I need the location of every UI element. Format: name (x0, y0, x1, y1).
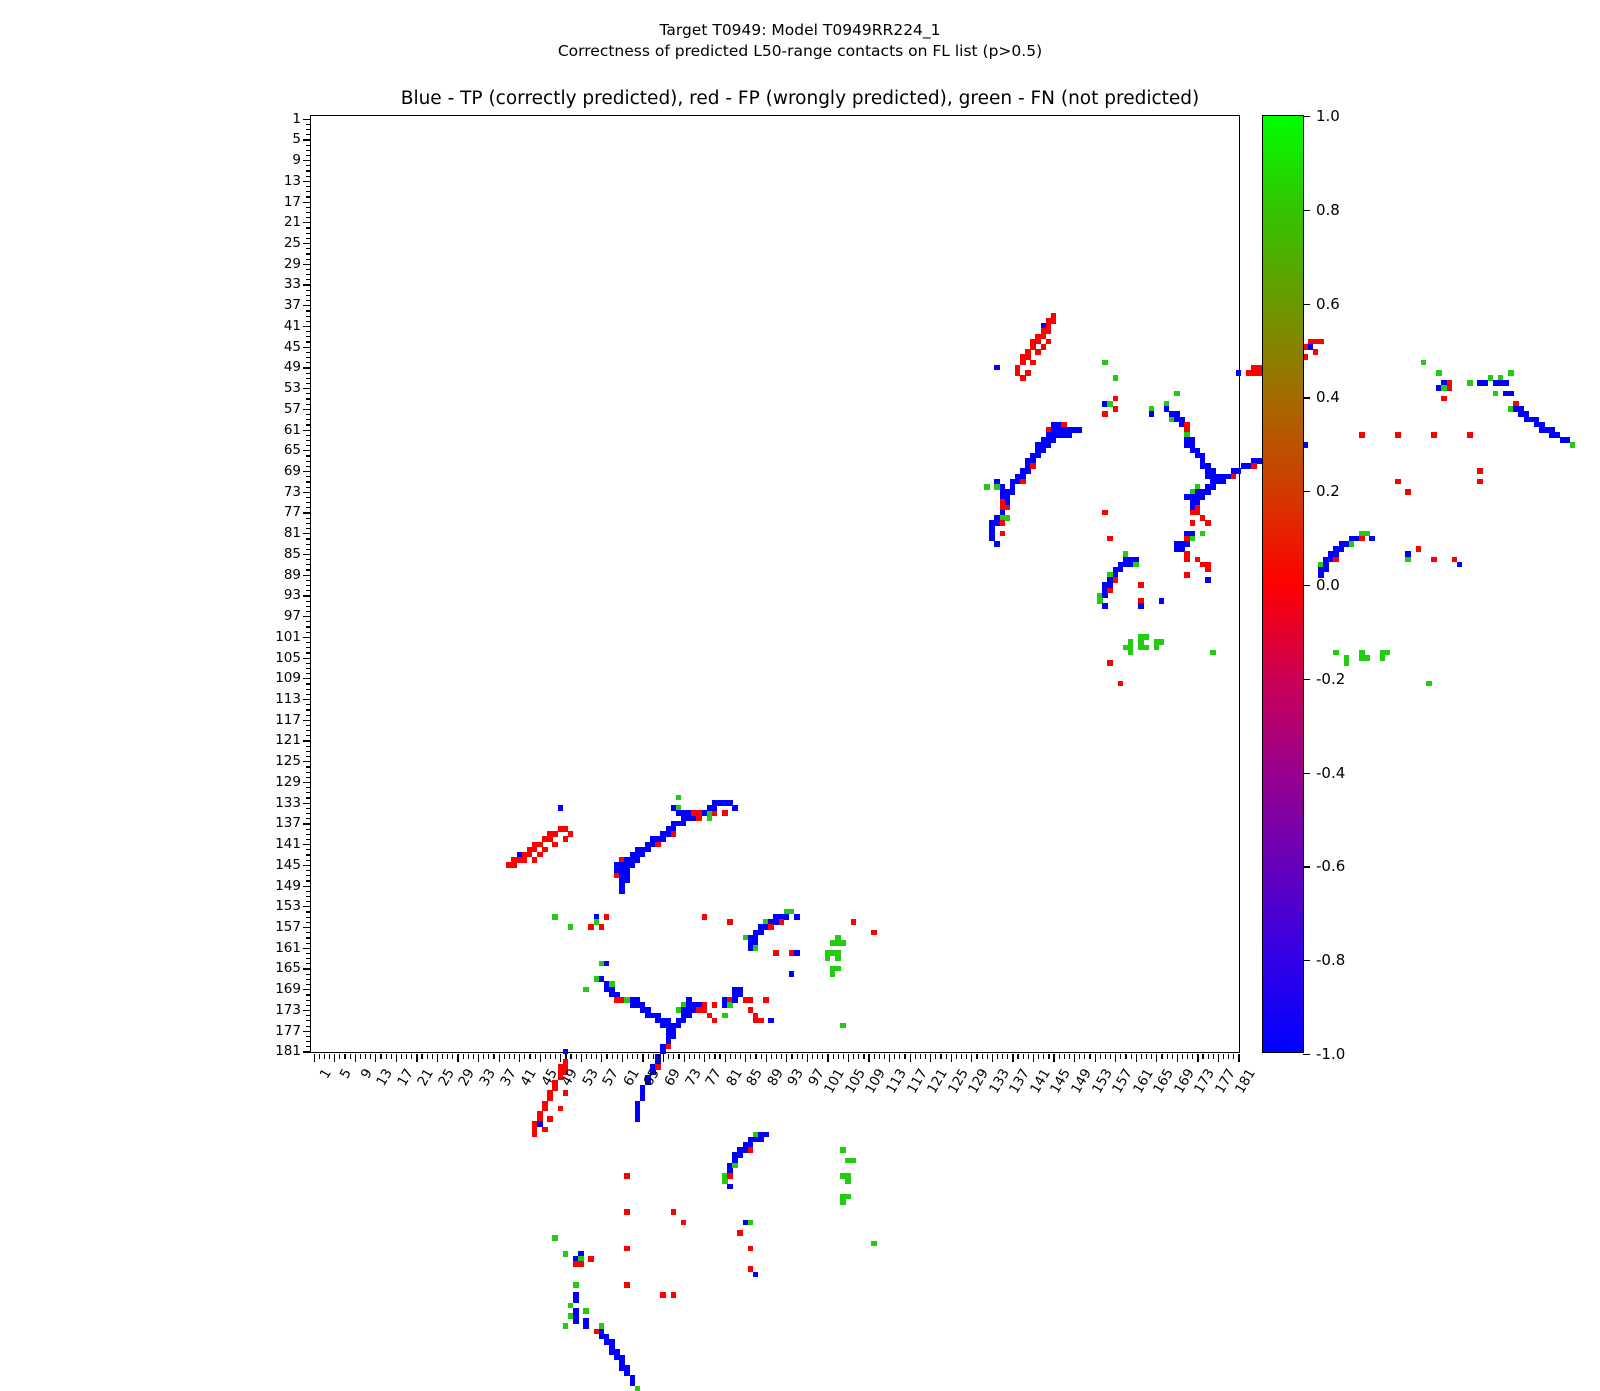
y-tick-label: 97 (284, 608, 301, 624)
y-tick (306, 601, 311, 602)
contact-cell (789, 971, 795, 977)
y-tick (306, 943, 311, 944)
y-tick (306, 259, 311, 260)
x-tick-label: 153 (1089, 1066, 1116, 1096)
y-tick (306, 186, 311, 187)
contact-cell (712, 1018, 718, 1024)
contact-cell (1035, 349, 1041, 355)
y-tick (306, 891, 311, 892)
y-tick-label: 121 (275, 732, 301, 748)
y-tick (306, 694, 311, 695)
x-tick-label: 33 (476, 1066, 498, 1089)
x-tick-label: 161 (1130, 1066, 1157, 1096)
y-tick-label: 81 (284, 525, 301, 541)
colorbar-tick-label: -0.6 (1316, 857, 1345, 875)
y-tick-label: 69 (284, 463, 301, 479)
contact-cell (835, 956, 841, 962)
x-tick (863, 1054, 864, 1059)
contact-cell (732, 1163, 738, 1169)
y-tick-label: 181 (275, 1043, 301, 1059)
contact-cell (1333, 650, 1339, 656)
contact-cell (1200, 494, 1206, 500)
x-tick (817, 1054, 818, 1059)
contact-cell (768, 1018, 774, 1024)
x-tick (355, 1054, 356, 1062)
colorbar-tick-label: 0.0 (1316, 576, 1340, 594)
y-tick (306, 1020, 311, 1021)
contact-cell (743, 997, 749, 1003)
x-tick (570, 1054, 571, 1059)
x-tick (632, 1054, 633, 1059)
y-tick (306, 896, 311, 897)
y-tick (306, 746, 311, 747)
y-tick (306, 523, 311, 524)
y-tick (306, 544, 311, 545)
colorbar-tick-label: 0.8 (1316, 201, 1340, 219)
y-tick (306, 227, 311, 228)
y-tick (306, 984, 311, 985)
y-tick (306, 590, 311, 591)
y-tick-label: 9 (292, 152, 301, 168)
x-tick (1028, 1054, 1029, 1059)
contact-cell (1077, 427, 1083, 433)
contact-cell (563, 1251, 569, 1257)
y-tick (303, 658, 311, 659)
contact-cell (1143, 645, 1149, 651)
y-tick (306, 279, 311, 280)
contact-cell (532, 1132, 538, 1138)
y-tick (306, 647, 311, 648)
contact-cell (624, 1173, 630, 1179)
contact-cell (1102, 593, 1108, 599)
y-tick (303, 948, 311, 949)
y-tick (306, 383, 311, 384)
x-tick (416, 1054, 417, 1062)
x-tick (1079, 1054, 1080, 1059)
x-tick (565, 1054, 566, 1059)
contact-cell (671, 1292, 677, 1298)
contact-cell (1051, 437, 1057, 443)
y-tick (303, 160, 311, 161)
y-tick (306, 751, 311, 752)
x-tick (833, 1054, 834, 1059)
contact-cell (722, 810, 728, 816)
x-tick (606, 1054, 607, 1059)
y-tick (306, 310, 311, 311)
y-tick (306, 549, 311, 550)
y-tick-label: 157 (275, 919, 301, 935)
x-tick (370, 1054, 371, 1059)
contact-cell (635, 1386, 641, 1391)
y-tick-label: 85 (284, 546, 301, 562)
x-tick (719, 1054, 720, 1059)
contact-cell (1359, 432, 1365, 438)
y-tick (306, 559, 311, 560)
y-tick-label: 113 (275, 691, 301, 707)
x-tick (689, 1054, 690, 1059)
contact-cell (1000, 520, 1006, 526)
x-tick (725, 1054, 726, 1062)
y-tick (306, 606, 311, 607)
y-tick-label: 33 (284, 276, 301, 292)
contact-cell (1344, 660, 1350, 666)
y-tick (306, 673, 311, 674)
x-tick-label: 93 (785, 1066, 807, 1089)
x-tick (473, 1054, 474, 1059)
contact-cell (1467, 380, 1473, 386)
contact-cell (1107, 660, 1113, 666)
x-tick (930, 1054, 931, 1062)
contact-cell (588, 924, 594, 930)
x-tick (545, 1054, 546, 1059)
contact-cell (583, 1308, 589, 1314)
x-tick-label: 41 (517, 1066, 539, 1089)
y-tick (306, 461, 311, 462)
x-tick (1038, 1054, 1039, 1059)
y-tick (303, 450, 311, 451)
contact-cell (1508, 391, 1514, 397)
contact-cell (1174, 391, 1180, 397)
contact-cell (537, 852, 543, 858)
contact-cell (1200, 531, 1206, 537)
x-tick (889, 1054, 890, 1062)
x-tick-label: 81 (723, 1066, 745, 1089)
x-tick (673, 1054, 674, 1059)
y-tick-label: 49 (284, 359, 301, 375)
x-tick (478, 1054, 479, 1062)
y-tick (306, 357, 311, 358)
contact-cell (640, 1095, 646, 1101)
x-tick (344, 1054, 345, 1059)
x-tick-label: 157 (1109, 1066, 1136, 1096)
contact-cell (588, 1256, 594, 1262)
y-tick (306, 507, 311, 508)
contact-cell (1426, 681, 1432, 687)
y-tick (306, 958, 311, 959)
contact-cell (1364, 655, 1370, 661)
x-tick (463, 1054, 464, 1059)
y-tick (306, 378, 311, 379)
x-tick (1089, 1054, 1090, 1059)
x-tick (365, 1054, 366, 1059)
contact-cell (573, 1282, 579, 1288)
y-tick (306, 994, 311, 995)
contact-cell (1102, 411, 1108, 417)
contact-cell (758, 1137, 764, 1143)
x-tick (468, 1054, 469, 1059)
x-tick (802, 1054, 803, 1059)
x-tick (1141, 1054, 1142, 1059)
y-tick (306, 808, 311, 809)
legend-caption: Blue - TP (correctly predicted), red - F… (0, 88, 1600, 109)
contact-cell (1477, 479, 1483, 485)
x-tick (314, 1054, 315, 1062)
x-tick (966, 1054, 967, 1059)
y-tick (306, 373, 311, 374)
x-tick (956, 1054, 957, 1059)
contact-cell (1333, 557, 1339, 563)
x-tick-label: 133 (986, 1066, 1013, 1096)
y-tick (306, 248, 311, 249)
x-tick (874, 1054, 875, 1059)
y-tick (306, 932, 311, 933)
contact-cell (660, 836, 666, 842)
contact-cell (1339, 546, 1345, 552)
y-tick (306, 963, 311, 964)
contact-cell (542, 1106, 548, 1112)
y-tick (306, 274, 311, 275)
contact-cell (542, 1127, 548, 1133)
x-tick (879, 1054, 880, 1059)
contact-cell (1128, 650, 1134, 656)
contact-cell (732, 997, 738, 1003)
contact-cell (1416, 546, 1422, 552)
x-tick (550, 1054, 551, 1059)
contact-cell (624, 878, 630, 884)
contact-cell (552, 842, 558, 848)
contact-cell (1107, 536, 1113, 542)
y-tick (306, 772, 311, 773)
x-tick (709, 1054, 710, 1059)
contact-cell (1205, 489, 1211, 495)
y-tick (303, 678, 311, 679)
x-tick-label: 117 (904, 1066, 931, 1096)
y-tick-label: 153 (275, 898, 301, 914)
y-tick (306, 341, 311, 342)
contact-cell (1113, 375, 1119, 381)
x-tick (1238, 1054, 1239, 1062)
x-tick (648, 1054, 649, 1059)
y-tick (306, 233, 311, 234)
x-tick (730, 1054, 731, 1059)
y-tick (303, 119, 311, 120)
contact-cell (604, 961, 610, 967)
x-tick (612, 1054, 613, 1059)
contact-cell (599, 924, 605, 930)
contact-cell (1205, 520, 1211, 526)
contact-cell (794, 914, 800, 920)
x-tick (1167, 1054, 1168, 1059)
x-tick (1120, 1054, 1121, 1059)
colorbar-tick-label: -1.0 (1316, 1045, 1345, 1063)
x-tick (535, 1054, 536, 1059)
x-tick (591, 1054, 592, 1059)
contact-cell (1184, 551, 1190, 557)
y-tick (303, 595, 311, 596)
y-tick (306, 352, 311, 353)
y-tick-label: 165 (275, 960, 301, 976)
x-tick (622, 1054, 623, 1062)
contact-cell (1041, 344, 1047, 350)
colorbar-tick (1303, 1054, 1310, 1055)
y-tick (306, 253, 311, 254)
y-tick (306, 725, 311, 726)
y-tick (303, 1031, 311, 1032)
x-tick (699, 1054, 700, 1059)
y-tick (306, 191, 311, 192)
x-tick-label: 53 (579, 1066, 601, 1089)
x-tick (601, 1054, 602, 1062)
y-tick (303, 720, 311, 721)
y-tick (303, 533, 311, 534)
y-tick (306, 683, 311, 684)
contact-cell (1138, 582, 1144, 588)
y-tick-label: 41 (284, 318, 301, 334)
x-tick (1048, 1054, 1049, 1059)
x-tick (1233, 1054, 1234, 1059)
contact-cell (994, 520, 1000, 526)
y-tick (306, 870, 311, 871)
x-tick (858, 1054, 859, 1059)
contact-cell (681, 1018, 687, 1024)
y-tick (303, 637, 311, 638)
contact-cell (568, 831, 574, 837)
contact-cell (558, 1106, 564, 1112)
contact-cell (712, 1002, 718, 1008)
y-tick (303, 927, 311, 928)
figure-title: Target T0949: Model T0949RR224_1 Correct… (0, 20, 1600, 62)
y-tick-label: 13 (284, 173, 301, 189)
contact-cell (702, 914, 708, 920)
x-tick-label: 21 (415, 1066, 437, 1089)
contact-cell (1503, 380, 1509, 386)
y-tick (306, 269, 311, 270)
x-tick-label: 121 (924, 1066, 951, 1096)
contact-cell (563, 1090, 569, 1096)
x-tick (1146, 1054, 1147, 1059)
x-tick (391, 1054, 392, 1059)
x-tick (946, 1054, 947, 1059)
contact-cell (1159, 639, 1165, 645)
y-tick (306, 880, 311, 881)
contact-cell (1020, 479, 1026, 485)
contact-cell (1431, 432, 1437, 438)
contact-cell (1447, 385, 1453, 391)
contact-cell (748, 1220, 754, 1226)
y-tick-label: 5 (292, 131, 301, 147)
y-tick-label: 173 (275, 1002, 301, 1018)
y-tick (303, 823, 311, 824)
y-tick (306, 445, 311, 446)
contact-cell (522, 857, 528, 863)
x-tick-label: 69 (661, 1066, 683, 1089)
y-tick (303, 264, 311, 265)
x-tick-label: 109 (863, 1066, 890, 1096)
x-tick-label: 165 (1150, 1066, 1177, 1096)
x-tick (714, 1054, 715, 1059)
y-tick (306, 124, 311, 125)
y-tick (306, 585, 311, 586)
colorbar-tick (1303, 210, 1310, 211)
contact-cell (1000, 531, 1006, 537)
contact-cell (1251, 463, 1257, 469)
contact-cell (1482, 380, 1488, 386)
y-tick (306, 642, 311, 643)
x-tick (1064, 1054, 1065, 1059)
contact-cell (763, 1132, 769, 1138)
contact-cell (1349, 541, 1355, 547)
y-tick (306, 424, 311, 425)
x-tick (750, 1054, 751, 1059)
y-tick (306, 813, 311, 814)
y-tick (306, 911, 311, 912)
contact-map-plot-area: 1591317212529333741454953576165697377818… (310, 115, 1240, 1053)
y-tick (306, 777, 311, 778)
x-tick (1100, 1054, 1101, 1059)
y-tick (303, 347, 311, 348)
contact-cell (655, 842, 661, 848)
x-tick (432, 1054, 433, 1059)
x-tick (915, 1054, 916, 1059)
x-tick-label: 9 (357, 1066, 375, 1081)
y-tick (306, 321, 311, 322)
y-tick-label: 145 (275, 857, 301, 873)
x-tick-label: 25 (435, 1066, 457, 1089)
x-tick (812, 1054, 813, 1059)
x-tick (971, 1054, 972, 1062)
x-tick (1228, 1054, 1229, 1059)
contact-cell (840, 1023, 846, 1029)
y-tick (303, 1010, 311, 1011)
contact-cell (660, 1292, 666, 1298)
x-tick (504, 1054, 505, 1059)
contact-cell (722, 1013, 728, 1019)
contact-cell (1035, 453, 1041, 459)
contact-cell (1359, 536, 1365, 542)
x-tick (350, 1054, 351, 1059)
x-tick-label: 73 (682, 1066, 704, 1089)
x-tick (987, 1054, 988, 1059)
contact-cell (1118, 567, 1124, 573)
contact-cell (1118, 681, 1124, 687)
y-tick-label: 53 (284, 380, 301, 396)
x-tick-label: 13 (374, 1066, 396, 1089)
y-tick (306, 518, 311, 519)
x-tick (1033, 1054, 1034, 1062)
colorbar-tick (1303, 866, 1310, 867)
y-tick (306, 336, 311, 337)
contact-cell (640, 852, 646, 858)
contact-cell (1184, 572, 1190, 578)
y-tick (303, 1051, 311, 1052)
y-tick (306, 730, 311, 731)
y-tick (306, 974, 311, 975)
x-tick (637, 1054, 638, 1059)
x-tick (745, 1054, 746, 1062)
contact-cell (1405, 489, 1411, 495)
y-tick (303, 222, 311, 223)
contact-cell (1107, 588, 1113, 594)
contact-cell (681, 821, 687, 827)
contact-cell (1380, 655, 1386, 661)
contact-cell (1102, 510, 1108, 516)
colorbar-tick (1303, 960, 1310, 961)
y-tick-label: 109 (275, 670, 301, 686)
x-tick (1151, 1054, 1152, 1059)
contact-cell (635, 857, 641, 863)
x-tick (324, 1054, 325, 1059)
x-tick (1084, 1054, 1085, 1059)
x-tick (822, 1054, 823, 1059)
y-tick-label: 57 (284, 401, 301, 417)
colorbar: 1.00.80.60.40.20.0-0.2-0.4-0.6-0.8-1.0 (1262, 115, 1304, 1053)
x-tick (447, 1054, 448, 1059)
y-tick (306, 564, 311, 565)
y-tick-label: 77 (284, 504, 301, 520)
y-tick (306, 538, 311, 539)
contact-cell (1395, 432, 1401, 438)
y-tick (306, 860, 311, 861)
